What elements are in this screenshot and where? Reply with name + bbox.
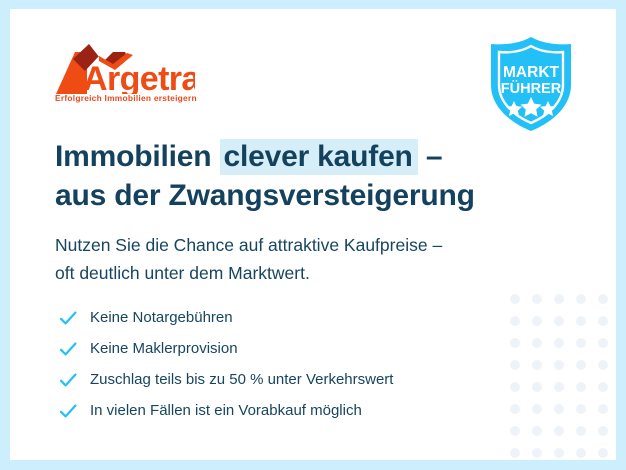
decorative-dot xyxy=(510,404,520,414)
headline-part1: Immobilien xyxy=(55,140,220,173)
decorative-dot xyxy=(554,404,564,414)
decorative-dot xyxy=(576,426,586,436)
check-icon xyxy=(58,370,78,390)
headline-line2: aus der Zwangsversteigerung xyxy=(55,176,475,215)
badge-line1: MARKT xyxy=(503,64,559,81)
list-item: In vielen Fällen ist ein Vorabkauf mögli… xyxy=(58,395,393,426)
decorative-dot xyxy=(532,426,542,436)
shield-badge-icon: MARKT FÜHRER xyxy=(485,35,577,133)
decorative-dot xyxy=(532,404,542,414)
argetra-logo[interactable]: Argetra Erfolgreich Immobilien ersteiger… xyxy=(55,42,197,103)
decorative-dot xyxy=(510,360,520,370)
headline-part2: – xyxy=(418,140,443,173)
badge-line2: FÜHRER xyxy=(501,80,562,97)
decorative-dot xyxy=(510,316,520,326)
list-item: Zuschlag teils bis zu 50 % unter Verkehr… xyxy=(58,364,393,395)
decorative-dot xyxy=(576,294,586,304)
svg-text:Argetra: Argetra xyxy=(83,60,195,94)
decorative-dot xyxy=(554,294,564,304)
decorative-dot xyxy=(598,426,608,436)
list-item-label: Keine Maklerprovision xyxy=(90,340,238,357)
promotional-banner: Argetra Erfolgreich Immobilien ersteiger… xyxy=(0,0,626,470)
page-title: Immobilien clever kaufen – aus der Zwang… xyxy=(55,137,475,215)
banner-canvas: Argetra Erfolgreich Immobilien ersteiger… xyxy=(10,9,616,460)
market-leader-badge: MARKT FÜHRER xyxy=(485,35,577,133)
decorative-dot xyxy=(598,338,608,348)
argetra-logo-icon: Argetra xyxy=(55,42,195,94)
subheadline: Nutzen Sie die Chance auf attraktive Kau… xyxy=(55,231,442,287)
decorative-dot xyxy=(576,338,586,348)
subheadline-line2: oft deutlich unter dem Marktwert. xyxy=(55,259,442,287)
decorative-dot xyxy=(598,294,608,304)
decorative-dot xyxy=(576,316,586,326)
decorative-dot xyxy=(598,382,608,392)
decorative-dot xyxy=(510,382,520,392)
decorative-dot xyxy=(510,448,520,458)
decorative-dot xyxy=(554,360,564,370)
decorative-dot xyxy=(554,338,564,348)
list-item-label: In vielen Fällen ist ein Vorabkauf mögli… xyxy=(90,402,362,419)
list-item: Keine Notargebühren xyxy=(58,302,393,333)
decorative-dot xyxy=(510,294,520,304)
list-item-label: Keine Notargebühren xyxy=(90,309,233,326)
subheadline-line1: Nutzen Sie die Chance auf attraktive Kau… xyxy=(55,231,442,259)
decorative-dot xyxy=(576,360,586,370)
headline-highlight: clever kaufen xyxy=(220,139,418,175)
decorative-dot xyxy=(554,448,564,458)
logo-mark-row: Argetra xyxy=(55,42,197,92)
decorative-dot xyxy=(532,294,542,304)
decorative-dot xyxy=(554,316,564,326)
decorative-dot xyxy=(532,316,542,326)
check-icon xyxy=(58,339,78,359)
decorative-dot xyxy=(510,426,520,436)
decorative-dot xyxy=(532,338,542,348)
decorative-dot xyxy=(554,382,564,392)
decorative-dot xyxy=(554,426,564,436)
check-icon xyxy=(58,401,78,421)
decorative-dot xyxy=(532,360,542,370)
decorative-dot xyxy=(576,404,586,414)
decorative-dot xyxy=(598,448,608,458)
logo-tagline: Erfolgreich Immobilien ersteigern xyxy=(55,93,197,103)
benefits-list: Keine NotargebührenKeine Maklerprovision… xyxy=(58,302,393,426)
check-icon xyxy=(58,308,78,328)
decorative-dot xyxy=(532,382,542,392)
decorative-dot-grid xyxy=(510,294,616,460)
decorative-dot xyxy=(532,448,542,458)
list-item-label: Zuschlag teils bis zu 50 % unter Verkehr… xyxy=(90,371,393,388)
decorative-dot xyxy=(598,404,608,414)
decorative-dot xyxy=(510,338,520,348)
decorative-dot xyxy=(598,360,608,370)
decorative-dot xyxy=(576,448,586,458)
decorative-dot xyxy=(576,382,586,392)
decorative-dot xyxy=(598,316,608,326)
list-item: Keine Maklerprovision xyxy=(58,333,393,364)
